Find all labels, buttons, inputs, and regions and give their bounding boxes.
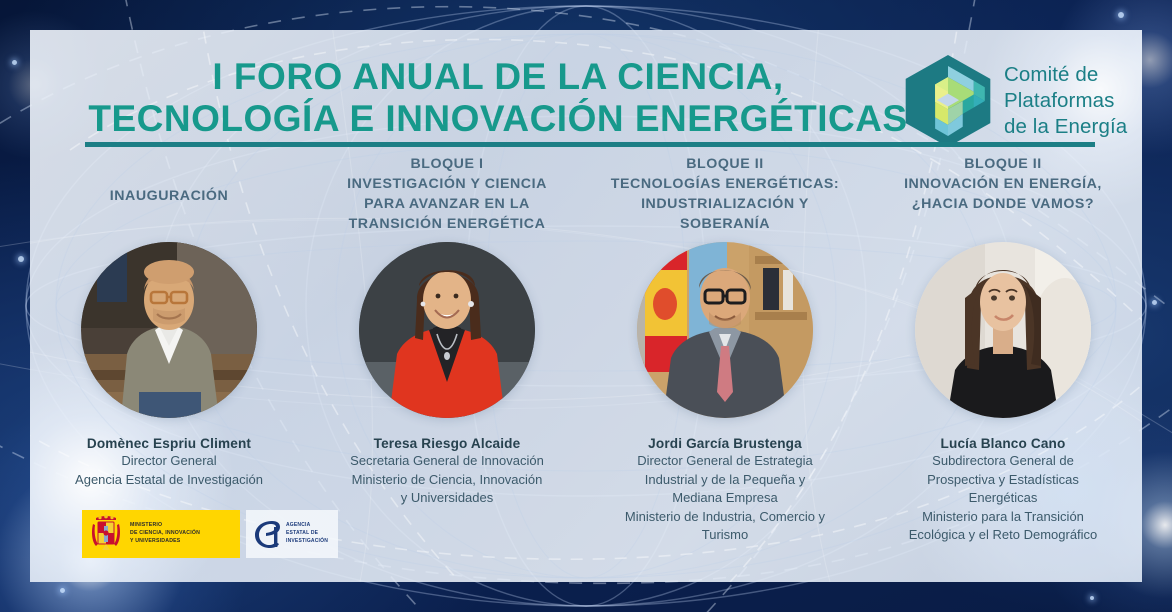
ministerio-line-1: MINISTERIO [130,522,200,530]
block-line: INDUSTRIALIZACIÓN Y [611,194,839,214]
block-line: SOBERANÍA [611,214,839,234]
role-line: Mediana Empresa [625,489,825,508]
role-line: Director General de Estrategia [625,452,825,471]
hexagon-comite-logo-icon [902,53,994,149]
agencia-estatal-logo: AGENCIA ESTATAL DE INVESTIGACIÓN [246,510,338,558]
logo-line-3: de la Energía [1004,114,1127,140]
role-line: Ecológica y el Reto Demográfico [909,526,1098,545]
role-line: Subdirectora General de [909,452,1098,471]
speaker-role: Subdirectora General de Prospectiva y Es… [905,452,1102,545]
role-line: Ministerio para la Transición [909,508,1098,527]
footer-logos: MINISTERIO DE CIENCIA, INNOVACIÓN Y UNIV… [82,510,338,558]
role-line: Ministerio de Industria, Comercio y [625,508,825,527]
speaker-role: Director General Agencia Estatal de Inve… [71,452,267,489]
speaker-role: Secretaria General de Innovación Ministe… [346,452,548,508]
block-line: BLOQUE I [347,154,547,174]
block-title: INAUGURACIÓN [98,154,241,238]
aei-monogram-icon [253,518,281,550]
block-line: INVESTIGACIÓN Y CIENCIA [347,174,547,194]
speaker-name: Jordi García Brustenga [648,436,802,451]
agencia-line-3: INVESTIGACIÓN [286,538,328,546]
ministerio-logo: MINISTERIO DE CIENCIA, INNOVACIÓN Y UNIV… [82,510,240,558]
speaker-name: Teresa Riesgo Alcaide [374,436,521,451]
speaker-column-bloque-2-tecnologias: BLOQUE II TECNOLOGÍAS ENERGÉTICAS: INDUS… [586,154,864,545]
agencia-line-1: AGENCIA [286,522,328,530]
node-dot [1118,12,1124,18]
photo-jordi-garcia [637,242,813,418]
block-title: BLOQUE II TECNOLOGÍAS ENERGÉTICAS: INDUS… [599,154,851,238]
block-line: BLOQUE II [611,154,839,174]
speaker-name: Lucía Blanco Cano [941,436,1066,451]
photo-teresa-riesgo [359,242,535,418]
role-line: Director General [75,452,263,471]
block-line: INNOVACIÓN EN ENERGÍA, [904,174,1102,194]
block-title: BLOQUE I INVESTIGACIÓN Y CIENCIA PARA AV… [335,154,559,238]
block-title: BLOQUE II INNOVACIÓN EN ENERGÍA, ¿HACIA … [892,154,1114,238]
photo-lucia-blanco [915,242,1091,418]
node-dot [18,256,24,262]
logo-line-1: Comité de [1004,62,1127,88]
photo-domenec-espriu [81,242,257,418]
page-title: I FORO ANUAL DE LA CIENCIA, TECNOLOGÍA E… [48,56,948,140]
portrait-illustration [637,242,813,418]
block-line: TRANSICIÓN ENERGÉTICA [347,214,547,234]
block-line: PARA AVANZAR EN LA [347,194,547,214]
ministerio-line-2: DE CIENCIA, INNOVACIÓN [130,530,200,538]
role-line: Industrial y de la Pequeña y [625,471,825,490]
portrait-illustration [915,242,1091,418]
speaker-column-inauguracion: INAUGURACIÓN [30,154,308,545]
speaker-role: Director General de Estrategia Industria… [621,452,829,545]
ministerio-line-3: Y UNIVERSIDADES [130,538,200,546]
role-line: y Universidades [350,489,544,508]
block-line: ¿HACIA DONDE VAMOS? [904,194,1102,214]
role-line: Agencia Estatal de Investigación [75,471,263,490]
portrait-illustration [81,242,257,418]
spain-coat-of-arms-icon [89,514,123,554]
node-dot [1090,596,1094,600]
title-line-1: I FORO ANUAL DE LA CIENCIA, [212,56,783,97]
portrait-illustration [359,242,535,418]
role-line: Secretaria General de Innovación [350,452,544,471]
block-line: BLOQUE II [904,154,1102,174]
role-line: Energéticas [909,489,1098,508]
speaker-column-bloque-1: BLOQUE I INVESTIGACIÓN Y CIENCIA PARA AV… [308,154,586,545]
ministerio-logo-text: MINISTERIO DE CIENCIA, INNOVACIÓN Y UNIV… [130,522,200,545]
speaker-name: Domènec Espriu Climent [87,436,251,451]
node-dot [12,60,17,65]
block-line: INAUGURACIÓN [110,188,229,204]
content-panel: I FORO ANUAL DE LA CIENCIA, TECNOLOGÍA E… [30,30,1142,582]
speaker-column-bloque-2-innovacion: BLOQUE II INNOVACIÓN EN ENERGÍA, ¿HACIA … [864,154,1142,545]
title-line-2: TECNOLOGÍA E INNOVACIÓN ENERGÉTICAS [88,98,907,139]
node-dot [1152,300,1157,305]
block-line: TECNOLOGÍAS ENERGÉTICAS: [611,174,839,194]
logo-line-2: Plataformas [1004,88,1127,114]
logo-text: Comité de Plataformas de la Energía [1004,62,1127,141]
comite-plataformas-logo: Comité de Plataformas de la Energía [902,45,1142,157]
agencia-logo-text: AGENCIA ESTATAL DE INVESTIGACIÓN [286,522,328,545]
role-line: Ministerio de Ciencia, Innovación [350,471,544,490]
agencia-line-2: ESTATAL DE [286,530,328,538]
role-line: Prospectiva y Estadísticas [909,471,1098,490]
role-line: Turismo [625,526,825,545]
speakers-row: INAUGURACIÓN [30,154,1142,545]
header-divider [85,142,1095,147]
node-dot [60,588,65,593]
